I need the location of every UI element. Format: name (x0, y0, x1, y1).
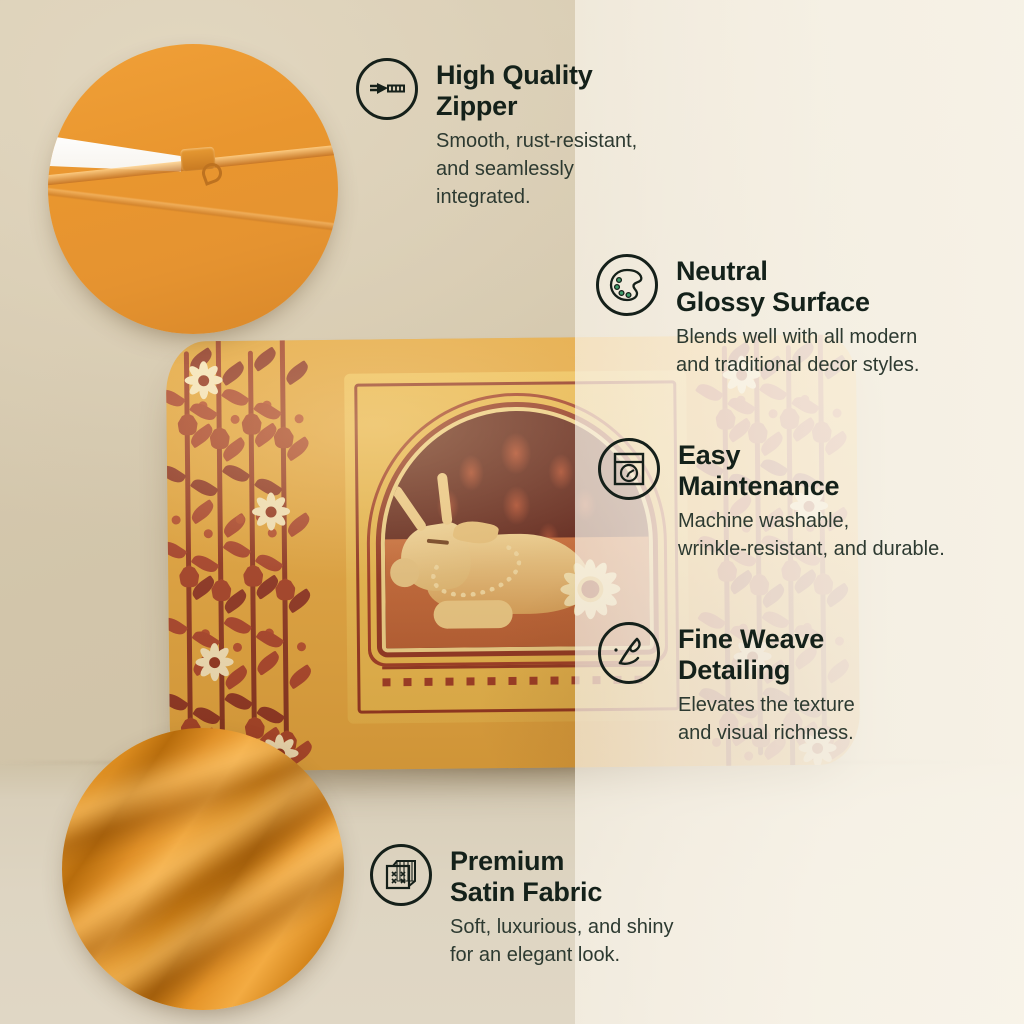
vine-berry (236, 515, 245, 524)
vine-bud (779, 407, 799, 429)
zipper-icon (356, 58, 418, 120)
vine-berry (231, 415, 240, 424)
feature-description: Blends well with all modern and traditio… (676, 323, 919, 379)
daisy-flower (249, 490, 291, 532)
vine-leaf (224, 689, 253, 714)
vine-leaf (188, 499, 217, 524)
vine-leaf (254, 650, 283, 675)
feature-title: High Quality Zipper (436, 60, 637, 122)
vine-leaf (283, 360, 312, 385)
vine-leaf (251, 346, 280, 371)
cow-muzzle (390, 558, 419, 587)
feature-title: Neutral Glossy Surface (676, 256, 919, 318)
vine-stem (280, 334, 289, 760)
feature-title: Fine Weave Detailing (678, 624, 855, 686)
vine-bud (715, 408, 735, 430)
vine-leaf (166, 689, 189, 714)
vine-berry (297, 642, 306, 651)
feature-text: Premium Satin Fabric Soft, luxurious, an… (450, 844, 673, 969)
vine-leaf (220, 513, 249, 538)
vine-berry (769, 409, 778, 418)
washing-machine-icon (598, 438, 660, 500)
feature-neutral-glossy-surface: Neutral Glossy Surface Blends well with … (596, 254, 919, 379)
vine-berry (172, 515, 181, 524)
vine-border-left (176, 340, 312, 771)
vine-bud (242, 413, 262, 435)
feature-title: Easy Maintenance (678, 440, 945, 502)
vine-bud (178, 413, 198, 435)
feature-fine-weave-detailing: Fine Weave Detailing Elevates the textur… (598, 622, 855, 747)
feature-description: Soft, luxurious, and shiny for an elegan… (450, 913, 673, 969)
zipper-fabric (48, 44, 338, 334)
daisy-flower (193, 641, 235, 683)
vine-leaf (221, 385, 250, 410)
needle-icon (598, 622, 660, 684)
vine-leaf (286, 664, 315, 689)
vine-leaf (166, 537, 188, 562)
vine-leaf (190, 475, 219, 500)
zipper-closeup-circle (48, 44, 338, 334)
arch-flower (557, 556, 624, 623)
vine-berry (295, 414, 304, 423)
infographic-canvas: High Quality Zipper Smooth, rust-resista… (0, 0, 1024, 1024)
vine-berry (204, 529, 213, 538)
feature-description: Elevates the texture and visual richness… (678, 691, 855, 747)
vine-berry (744, 751, 753, 760)
feature-high-quality-zipper: High Quality Zipper Smooth, rust-resista… (356, 58, 637, 211)
feature-text: High Quality Zipper Smooth, rust-resista… (436, 58, 637, 211)
feature-premium-satin-fabric: Premium Satin Fabric Soft, luxurious, an… (370, 844, 673, 969)
satin-closeup-circle (62, 728, 344, 1010)
feature-text: Easy Maintenance Machine washable, wrink… (678, 438, 945, 563)
feature-text: Neutral Glossy Surface Blends well with … (676, 254, 919, 379)
vine-leaf (166, 461, 187, 486)
feature-text: Fine Weave Detailing Elevates the textur… (678, 622, 855, 747)
vine-bud (243, 565, 263, 587)
daisy-flower (182, 359, 224, 401)
feature-description: Smooth, rust-resistant, and seamlessly i… (436, 127, 637, 211)
feature-easy-maintenance: Easy Maintenance Machine washable, wrink… (598, 438, 945, 563)
cow-leg (433, 600, 512, 629)
vine-leaf (166, 613, 188, 638)
vine-leaf (759, 379, 788, 404)
vine-leaf (223, 537, 252, 562)
palette-icon (596, 254, 658, 316)
vine-bud (179, 565, 199, 587)
feature-description: Machine washable, wrinkle-resistant, and… (678, 507, 945, 563)
fabric-swatch-icon (370, 844, 432, 906)
vine-leaf (223, 613, 252, 638)
vine-berry (833, 409, 842, 418)
feature-title: Premium Satin Fabric (450, 846, 673, 908)
vine-leaf (222, 461, 251, 486)
